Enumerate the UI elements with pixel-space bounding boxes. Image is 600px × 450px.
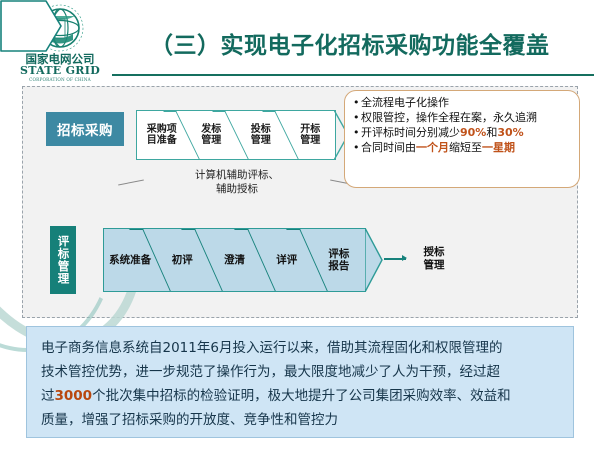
flow-step-detailed-review[interactable]: 详评 xyxy=(261,229,313,291)
logo-subtitle: CORPORATION OF CHINA xyxy=(8,77,112,83)
evaluation-flow-row: 系统准备 初评 澄清 详评 评标 报告 xyxy=(103,228,366,292)
stage-label-evaluation: 评标管理 xyxy=(50,226,76,294)
logo-english-name: STATE GRID xyxy=(8,65,112,77)
award-label-line2: 管理 xyxy=(414,259,454,272)
benefits-callout: • 全流程电子化操作 • 权限管控，操作全程在案，永久追溯 • 开评标时间分别减… xyxy=(344,90,580,188)
bullet-text: 开评标时间分别减少90%和30% xyxy=(361,126,573,140)
note-line-2: 辅助授标 xyxy=(146,182,328,196)
summary-line: 过3000个批次集中招标的检验证明，极大地提升了公司集团采购效率、效益和 xyxy=(41,384,559,408)
flow-step-line1: 系统准备 xyxy=(109,254,151,266)
flow-step-line2: 管理 xyxy=(300,135,320,147)
bullet-dot-icon: • xyxy=(353,111,361,125)
award-label-line1: 授标 xyxy=(414,246,454,259)
flow-step-bid-submit[interactable]: 投标 管理 xyxy=(236,111,286,159)
flow-step-system-prep[interactable]: 系统准备 xyxy=(104,229,156,291)
bullet-dot-icon: • xyxy=(353,126,361,140)
summary-line: 技术管控优势，进一步规范了操作行为，最大限度地减少了人为干预，经过超 xyxy=(41,360,559,384)
bullet-text: 权限管控，操作全程在案，永久追溯 xyxy=(361,111,573,125)
flow-step-line2: 管理 xyxy=(201,135,221,147)
award-management-shape[interactable] xyxy=(0,0,62,52)
flow-step-clarification[interactable]: 澄清 xyxy=(208,229,260,291)
flow-step-line1: 澄清 xyxy=(224,254,245,266)
flow-step-line1: 发标 xyxy=(201,124,221,136)
title-underline-rule xyxy=(112,74,594,76)
callout-bullet-item: • 权限管控，操作全程在案，永久追溯 xyxy=(353,111,573,125)
flow-step-preliminary-review[interactable]: 初评 xyxy=(156,229,208,291)
callout-bullet-item: • 全流程电子化操作 xyxy=(353,96,573,110)
flow-step-line1: 初评 xyxy=(172,254,193,266)
callout-bullet-item: • 开评标时间分别减少90%和30% xyxy=(353,126,573,140)
page-title: （三）实现电子化招标采购功能全覆盖 xyxy=(150,26,590,60)
flow-step-bid-issue[interactable]: 发标 管理 xyxy=(187,111,237,159)
summary-line: 质量，增强了招标采购的开放度、竞争性和管控力 xyxy=(41,408,559,432)
flow-connector-arrow xyxy=(384,258,406,260)
flow-step-line2: 管理 xyxy=(251,135,271,147)
flow-step-evaluation-report[interactable]: 评标 报告 xyxy=(313,229,365,291)
flow-step-bid-open[interactable]: 开标 管理 xyxy=(286,111,336,159)
callout-bullet-item: • 合同时间由一个月缩短至一星期 xyxy=(353,141,573,155)
flow-step-line1: 投标 xyxy=(251,124,271,136)
assisted-evaluation-note: 计算机辅助评标、 辅助授标 xyxy=(146,168,328,196)
flow-step-line1: 评标 xyxy=(328,248,349,260)
summary-text-box: 电子商务信息系统自2011年6月投入运行以来，借助其流程固化和权限管理的 技术管… xyxy=(26,326,574,438)
summary-line: 电子商务信息系统自2011年6月投入运行以来，借助其流程固化和权限管理的 xyxy=(41,336,559,360)
bullet-text: 合同时间由一个月缩短至一星期 xyxy=(361,141,573,155)
flow-step-line2: 目准备 xyxy=(147,135,177,147)
flow-step-line1: 开标 xyxy=(300,124,320,136)
award-management-label: 授标 管理 xyxy=(414,246,454,271)
flow-step-line1: 采购项 xyxy=(147,124,177,136)
row2-arrow-head-icon xyxy=(365,228,385,292)
bullet-dot-icon: • xyxy=(353,141,361,155)
bullet-dot-icon: • xyxy=(353,96,361,110)
slide-header: 国家电网公司 STATE GRID CORPORATION OF CHINA （… xyxy=(0,0,600,84)
stage-label-procurement: 招标采购 xyxy=(46,112,124,146)
bullet-text: 全流程电子化操作 xyxy=(361,96,573,110)
flow-step-line2: 报告 xyxy=(328,260,349,272)
flow-step-line1: 详评 xyxy=(276,254,297,266)
flow-step-procurement-prep[interactable]: 采购项 目准备 xyxy=(137,111,187,159)
note-line-1: 计算机辅助评标、 xyxy=(146,168,328,182)
procurement-flow-row: 采购项 目准备 发标 管理 投标 管理 开标 管理 xyxy=(136,110,336,160)
